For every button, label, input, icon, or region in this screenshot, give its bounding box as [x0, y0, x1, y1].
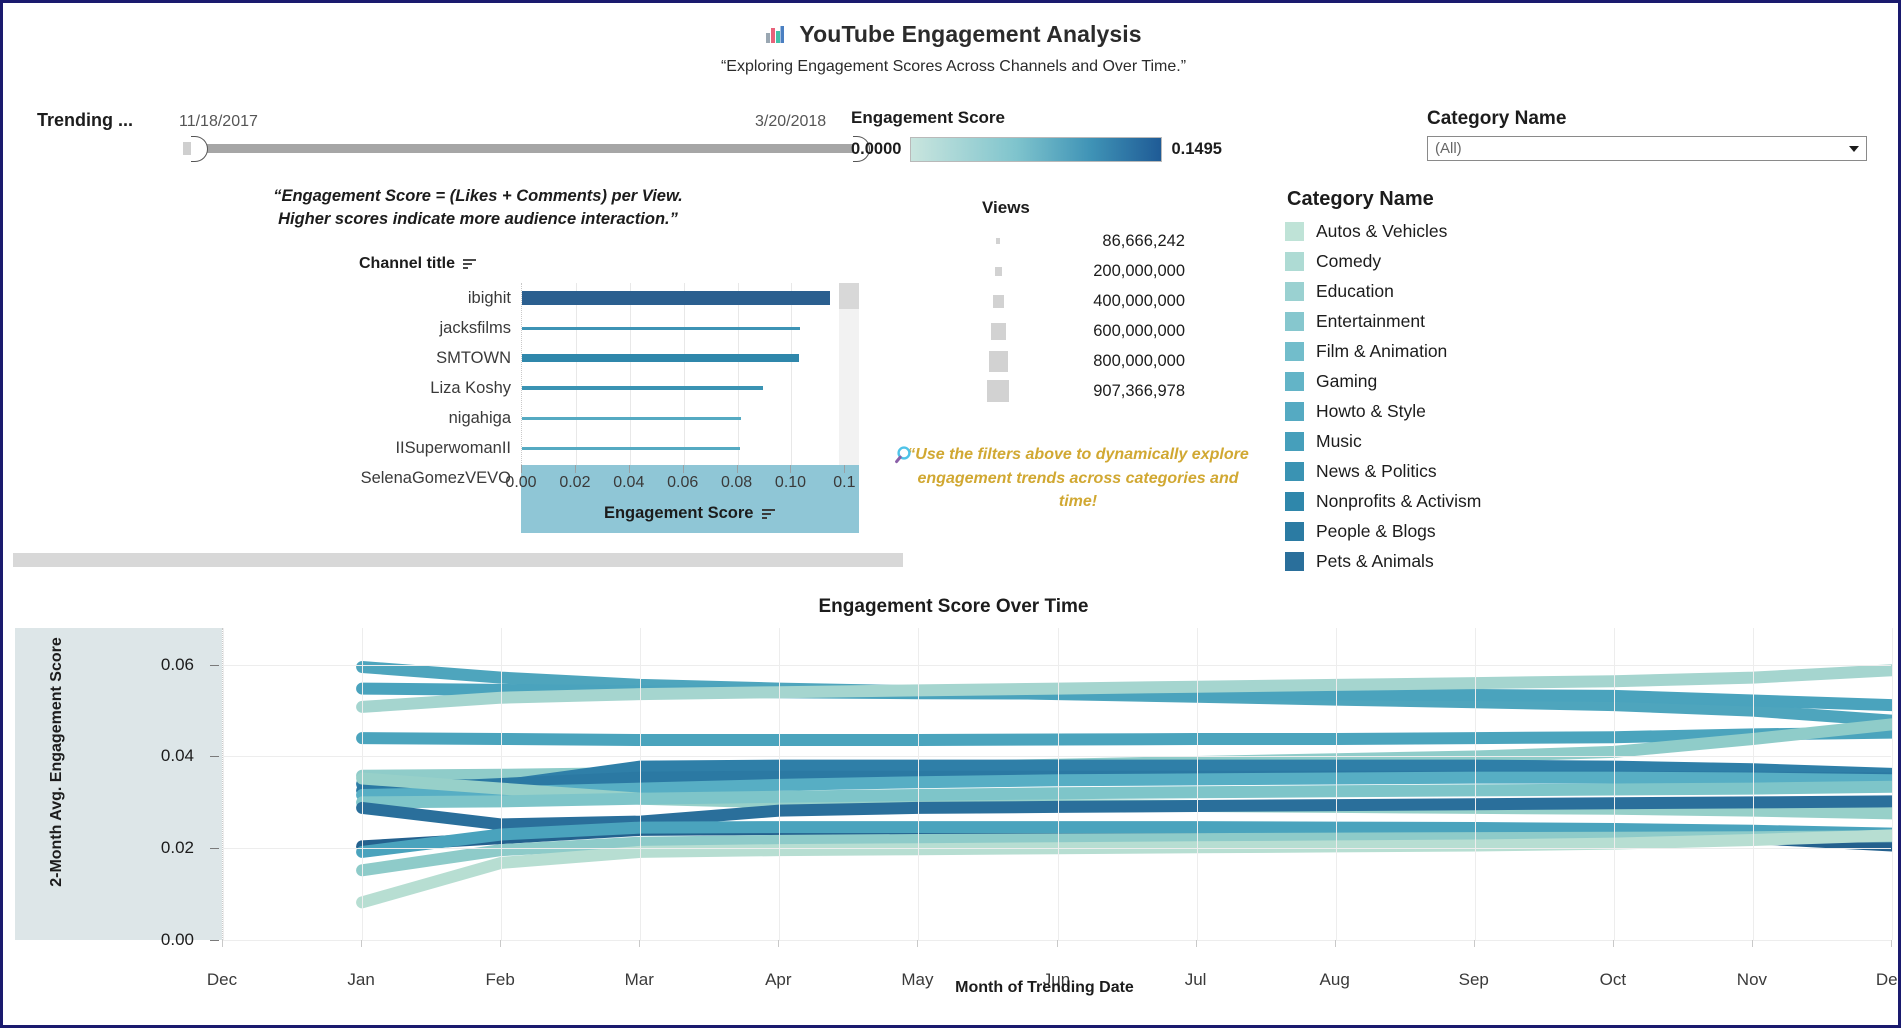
bar-category-label[interactable]: SMTOWN [301, 343, 511, 373]
views-legend-label: 86,666,242 [1015, 232, 1185, 251]
bar-x-axis-title-text: Engagement Score [604, 504, 753, 522]
category-color-swatch [1285, 252, 1304, 271]
line-y-tick-label: 0.06 [161, 655, 194, 675]
category-legend-title: Category Name [1285, 188, 1481, 211]
category-color-swatch [1285, 282, 1304, 301]
category-legend-label: Nonprofits & Activism [1316, 491, 1481, 512]
score-legend-scale: 0.0000 0.1495 [851, 137, 1222, 162]
line-chart-title: Engagement Score Over Time [3, 596, 1901, 618]
bar-category-label[interactable]: IISuperwomanII [301, 433, 511, 463]
category-color-swatch [1285, 402, 1304, 421]
category-legend-item[interactable]: Film & Animation [1285, 336, 1481, 366]
page-title-text: YouTube Engagement Analysis [799, 21, 1141, 47]
line-y-axis-title: 2-Month Avg. Engagement Score [48, 627, 66, 897]
views-legend-item[interactable]: 200,000,000 [981, 256, 1185, 286]
bar-x-tick [844, 465, 845, 473]
bar-mark[interactable] [522, 386, 763, 390]
dashboard-viewport: YouTube Engagement Analysis “Exploring E… [0, 0, 1901, 1028]
category-color-swatch [1285, 432, 1304, 451]
bar-scrollbar-thumb[interactable] [839, 283, 859, 309]
bar-mark[interactable] [522, 354, 799, 362]
score-legend-max: 0.1495 [1171, 140, 1221, 159]
category-color-swatch [1285, 492, 1304, 511]
category-legend-label: Education [1316, 281, 1394, 302]
bar-category-label[interactable]: SelenaGomezVEVO [301, 463, 511, 493]
line-x-gridline [1058, 628, 1059, 940]
bar-row-axis-title-text: Channel title [359, 255, 455, 272]
line-x-gridline [1614, 628, 1615, 940]
category-legend-item[interactable]: News & Politics [1285, 456, 1481, 486]
category-legend-item[interactable]: Gaming [1285, 366, 1481, 396]
line-x-tick-mark [1891, 940, 1892, 947]
bar-x-tick [790, 465, 791, 473]
views-size-swatch [981, 351, 1015, 372]
category-legend-item[interactable]: Nonprofits & Activism [1285, 486, 1481, 516]
category-color-swatch [1285, 372, 1304, 391]
engagement-over-time-chart: 2-Month Avg. Engagement Score 0.000.020.… [15, 628, 1891, 988]
date-range-end: 3/20/2018 [755, 113, 826, 131]
line-y-gridline [223, 848, 1891, 849]
score-legend-min: 0.0000 [851, 140, 901, 159]
bar-x-tick [683, 465, 684, 473]
category-legend-label: Comedy [1316, 251, 1381, 272]
category-legend-item[interactable]: People & Blogs [1285, 516, 1481, 546]
filter-hint-annotation: “Use the filters above to dynamically ex… [903, 443, 1253, 514]
bar-x-tick [737, 465, 738, 473]
views-legend-label: 600,000,000 [1015, 322, 1185, 341]
bar-horizontal-scrollbar[interactable] [13, 553, 903, 567]
category-name-legend: Category Name Autos & VehiclesComedyEduc… [1285, 188, 1481, 576]
category-legend-label: Howto & Style [1316, 401, 1426, 422]
bar-x-tick-label: 0.06 [667, 474, 698, 492]
category-color-swatch [1285, 522, 1304, 541]
line-x-tick-mark [1335, 940, 1336, 947]
bar-x-tick-label: 0.04 [613, 474, 644, 492]
bar-x-tick [521, 465, 522, 473]
views-size-legend: Views 86,666,242200,000,000400,000,00060… [981, 198, 1185, 406]
line-x-gridline [779, 628, 780, 940]
category-legend-label: Film & Animation [1316, 341, 1447, 362]
caption-line-1: “Engagement Score = (Likes + Comments) p… [243, 185, 713, 208]
views-size-swatch [981, 238, 1015, 244]
category-legend-label: People & Blogs [1316, 521, 1436, 542]
category-color-swatch [1285, 222, 1304, 241]
bar-mark[interactable] [522, 291, 830, 305]
bar-x-tick-label: 0.10 [775, 474, 806, 492]
bar-x-tick-label: 0.00 [505, 474, 536, 492]
line-x-tick-mark [778, 940, 779, 947]
bar-row-axis-title[interactable]: Channel title [359, 255, 477, 275]
views-size-swatch [981, 323, 1015, 340]
page-title: YouTube Engagement Analysis [3, 21, 1901, 51]
line-y-axis: 2-Month Avg. Engagement Score 0.000.020.… [15, 628, 222, 940]
line-x-gridline [640, 628, 641, 940]
bar-plot-area [521, 283, 839, 465]
score-gradient-bar [910, 137, 1162, 162]
bar-mark[interactable] [522, 447, 740, 450]
line-x-tick-mark [639, 940, 640, 947]
bar-category-label[interactable]: nigahiga [301, 403, 511, 433]
category-legend-item[interactable]: Education [1285, 276, 1481, 306]
line-x-gridline [501, 628, 502, 940]
category-legend-label: News & Politics [1316, 461, 1437, 482]
category-color-swatch [1285, 552, 1304, 571]
line-x-gridline [362, 628, 363, 940]
line-y-tick-label: 0.02 [161, 838, 194, 858]
line-plot-area [222, 628, 1891, 940]
bar-row[interactable] [522, 283, 839, 313]
bar-category-label[interactable]: jacksfilms [301, 313, 511, 343]
dashboard-header: YouTube Engagement Analysis “Exploring E… [3, 21, 1901, 76]
views-size-swatch [981, 380, 1015, 402]
line-x-gridline [1336, 628, 1337, 940]
bar-category-label[interactable]: ibighit [301, 283, 511, 313]
engagement-score-legend: Engagement Score 0.0000 0.1495 [851, 108, 1222, 162]
line-x-tick-mark [361, 940, 362, 947]
category-legend-label: Music [1316, 431, 1362, 452]
category-legend-label: Pets & Animals [1316, 551, 1434, 572]
views-legend-label: 800,000,000 [1015, 352, 1185, 371]
line-x-gridline [1753, 628, 1754, 940]
line-x-tick-mark [1613, 940, 1614, 947]
sort-descending-icon[interactable] [463, 257, 477, 275]
bar-x-tick-label: 0.08 [721, 474, 752, 492]
category-legend-item[interactable]: Music [1285, 426, 1481, 456]
caption-line-2: Higher scores indicate more audience int… [243, 208, 713, 231]
views-legend-rows: 86,666,242200,000,000400,000,000600,000,… [981, 226, 1185, 406]
category-legend-item[interactable]: Autos & Vehicles [1285, 216, 1481, 246]
views-legend-item[interactable]: 800,000,000 [981, 346, 1185, 376]
category-filter-value: (All) [1428, 140, 1462, 157]
views-legend-label: 200,000,000 [1015, 262, 1185, 281]
line-series-howto-style[interactable] [362, 733, 1892, 740]
bar-row[interactable] [522, 403, 839, 433]
line-y-tick-mark [210, 848, 219, 849]
bar-row[interactable] [522, 373, 839, 403]
bar-row[interactable] [522, 343, 839, 373]
category-legend-item[interactable]: Comedy [1285, 246, 1481, 276]
views-legend-label: 400,000,000 [1015, 292, 1185, 311]
category-legend-rows: Autos & VehiclesComedyEducationEntertain… [1285, 216, 1481, 576]
views-legend-title: Views [981, 198, 1185, 218]
line-x-tick-mark [1196, 940, 1197, 947]
category-legend-label: Autos & Vehicles [1316, 221, 1447, 242]
category-filter-label: Category Name [1427, 108, 1867, 130]
category-legend-item[interactable]: Howto & Style [1285, 396, 1481, 426]
line-x-axis-title: Month of Trending Date [210, 979, 1879, 997]
bar-mark[interactable] [522, 417, 741, 420]
engagement-score-caption: “Engagement Score = (Likes + Comments) p… [243, 185, 713, 232]
bar-chart-icon [765, 24, 785, 51]
line-x-tick-mark [500, 940, 501, 947]
line-x-gridline [223, 628, 224, 940]
filter-hint-text: “Use the filters above to dynamically ex… [907, 446, 1248, 510]
category-legend-item[interactable]: Pets & Animals [1285, 546, 1481, 576]
bar-row[interactable] [522, 433, 839, 463]
line-x-gridline [1475, 628, 1476, 940]
line-x-gridline [918, 628, 919, 940]
views-legend-item[interactable]: 600,000,000 [981, 316, 1185, 346]
views-size-swatch [981, 267, 1015, 276]
line-y-tick-label: 0.04 [161, 746, 194, 766]
chevron-down-icon[interactable] [1849, 146, 1859, 152]
line-x-tick-label: Dec [1876, 970, 1901, 990]
views-legend-item[interactable]: 400,000,000 [981, 286, 1185, 316]
category-legend-label: Gaming [1316, 371, 1377, 392]
line-x-tick-mark [1752, 940, 1753, 947]
date-range-start: 11/18/2017 [179, 113, 258, 131]
bar-category-label[interactable]: Liza Koshy [301, 373, 511, 403]
date-slider-handle-left[interactable] [191, 136, 208, 162]
bar-x-axis-title[interactable]: Engagement Score [521, 504, 859, 525]
line-x-gridline [1892, 628, 1893, 940]
date-slider-track[interactable] [195, 144, 859, 153]
category-color-swatch [1285, 312, 1304, 331]
views-legend-item[interactable]: 907,366,978 [981, 376, 1185, 406]
category-legend-label: Entertainment [1316, 311, 1425, 332]
bar-x-tick-label: 0.02 [559, 474, 590, 492]
views-legend-label: 907,366,978 [1015, 382, 1185, 401]
page-subtitle: “Exploring Engagement Scores Across Chan… [3, 58, 1901, 76]
category-legend-item[interactable]: Entertainment [1285, 306, 1481, 336]
bar-x-axis: Engagement Score 0.000.020.040.060.080.1… [521, 465, 859, 533]
line-y-tick-mark [210, 665, 219, 666]
bar-x-tick [629, 465, 630, 473]
magnifier-icon [895, 445, 917, 475]
bar-mark[interactable] [522, 327, 800, 330]
views-size-swatch [981, 295, 1015, 308]
line-y-gridline [223, 665, 1891, 666]
category-color-swatch [1285, 462, 1304, 481]
line-y-gridline [223, 756, 1891, 757]
category-filter-select[interactable]: (All) [1427, 136, 1867, 161]
line-x-tick-mark [917, 940, 918, 947]
bar-x-tick [575, 465, 576, 473]
bar-x-tick-label: 0.1 [833, 474, 855, 492]
bar-category-labels: ibighitjacksfilmsSMTOWNLiza Koshynigahig… [301, 283, 511, 493]
line-x-tick-mark [1474, 940, 1475, 947]
date-filter-label: Trending ... [37, 110, 133, 131]
line-x-gridline [1197, 628, 1198, 940]
views-legend-item[interactable]: 86,666,242 [981, 226, 1185, 256]
bar-row[interactable] [522, 313, 839, 343]
bar-vertical-scrollbar[interactable] [839, 283, 859, 465]
category-color-swatch [1285, 342, 1304, 361]
score-legend-title: Engagement Score [851, 108, 1222, 128]
line-x-tick-mark [222, 940, 223, 947]
line-x-tick-mark [1057, 940, 1058, 947]
sort-descending-icon[interactable] [762, 506, 776, 525]
category-name-filter[interactable]: Category Name (All) [1427, 108, 1867, 161]
line-y-tick-mark [210, 756, 219, 757]
